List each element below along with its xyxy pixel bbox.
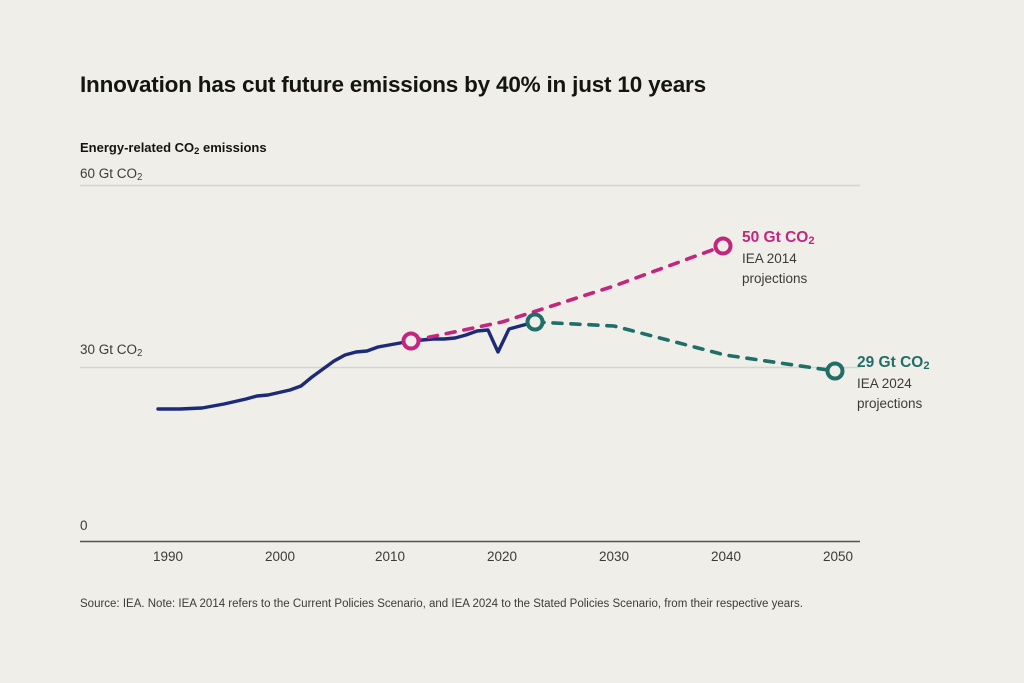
marker-iea-2024-end bbox=[828, 364, 843, 379]
marker-iea-2024-start bbox=[528, 315, 543, 330]
marker-iea-2014-end bbox=[716, 239, 731, 254]
annotation-iea-2024-value: 29 Gt CO2 bbox=[857, 353, 930, 374]
annotation-iea-2014-line1: IEA 2014 bbox=[742, 249, 815, 269]
annotation-iea-2024-line2: projections bbox=[857, 394, 930, 414]
marker-iea-2014-start bbox=[404, 334, 419, 349]
annotation-iea-2024-line1: IEA 2024 bbox=[857, 374, 930, 394]
source-note: Source: IEA. Note: IEA 2014 refers to th… bbox=[80, 598, 803, 610]
series-iea-2014 bbox=[411, 246, 723, 341]
annotation-iea-2024: 29 Gt CO2 IEA 2024 projections bbox=[857, 353, 930, 414]
series-iea-2024 bbox=[535, 322, 835, 371]
series-historical bbox=[158, 322, 535, 409]
annotation-iea-2014: 50 Gt CO2 IEA 2014 projections bbox=[742, 228, 815, 289]
chart-card: Innovation has cut future emissions by 4… bbox=[0, 0, 1024, 683]
annotation-iea-2014-value: 50 Gt CO2 bbox=[742, 228, 815, 249]
annotation-iea-2014-line2: projections bbox=[742, 269, 815, 289]
chart-plot bbox=[0, 0, 1024, 683]
